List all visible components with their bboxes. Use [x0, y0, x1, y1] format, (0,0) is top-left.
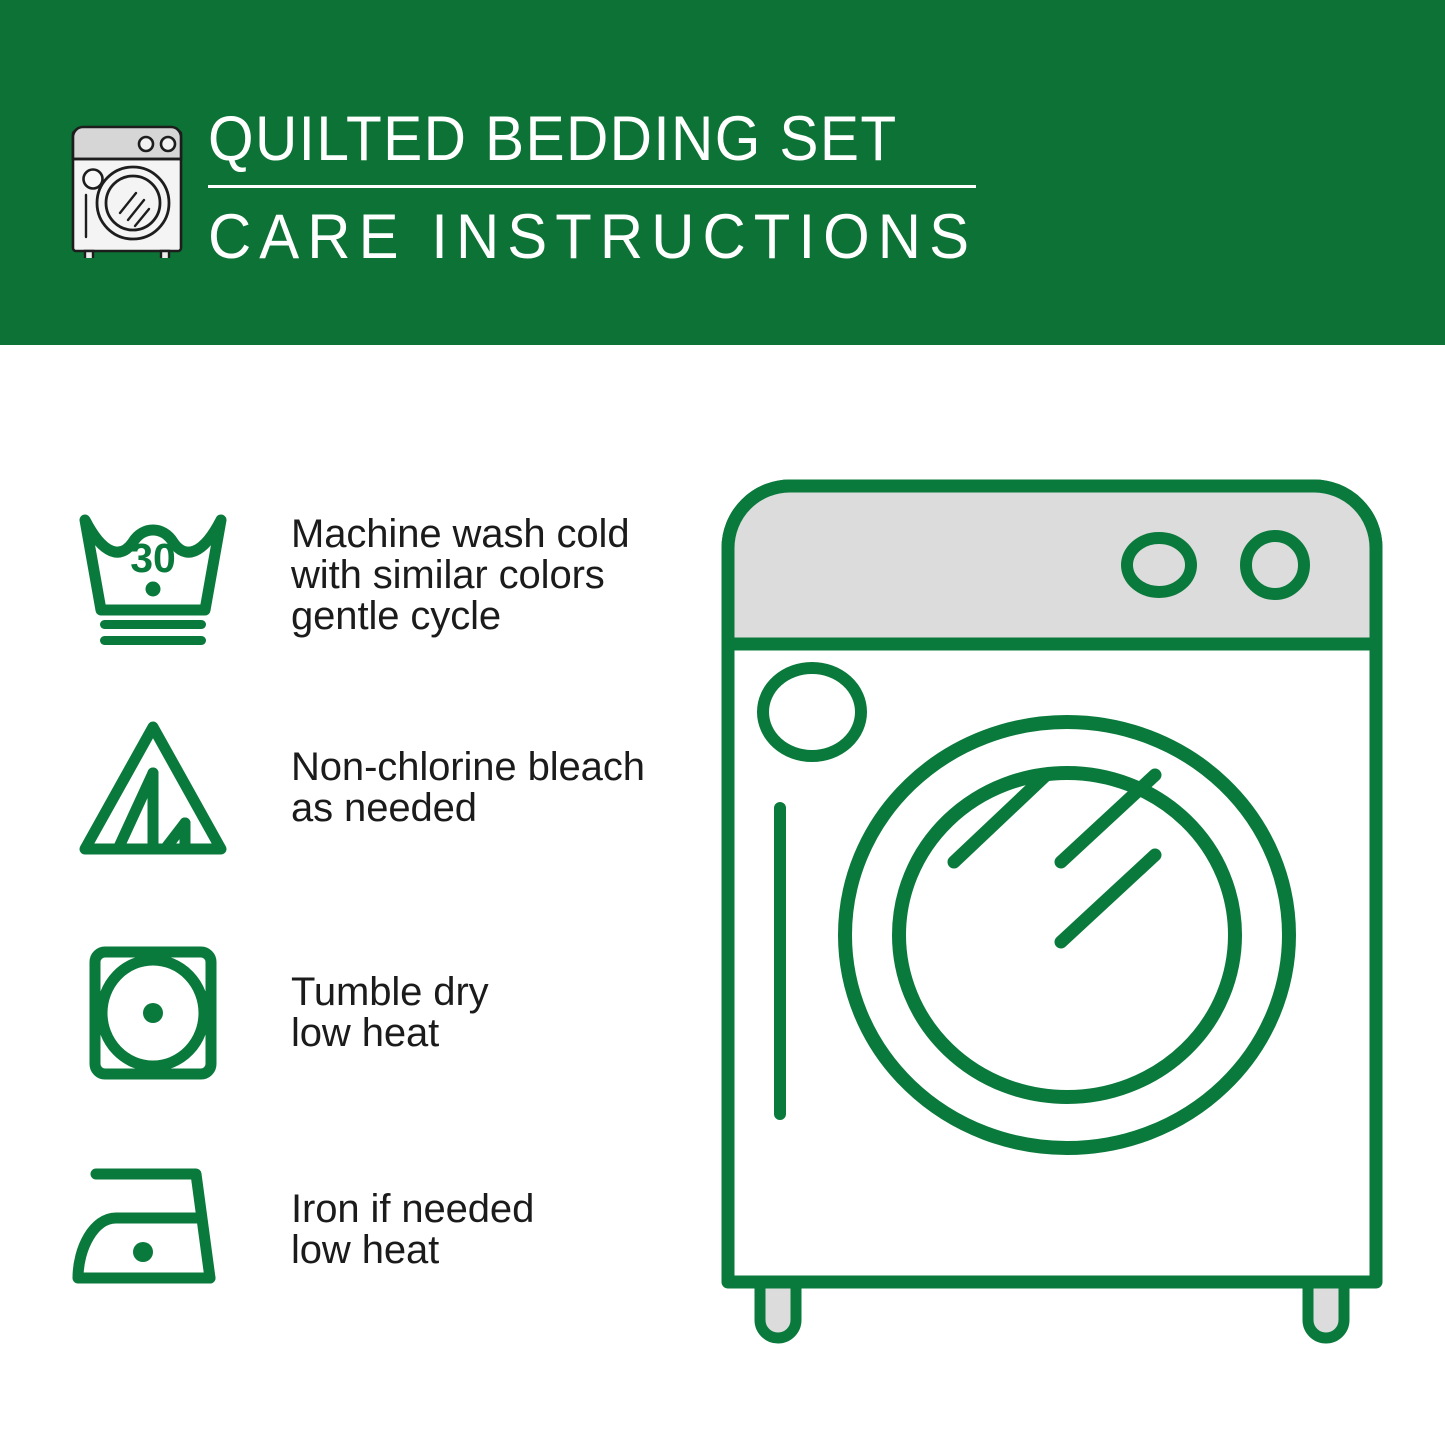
care-row: 30 Machine wash cold with similar colors… — [0, 485, 700, 665]
wash-temp-value: 30 — [130, 535, 176, 581]
care-label: Tumble dry low heat — [291, 972, 700, 1054]
title-divider — [208, 185, 976, 188]
header-banner: QUILTED BEDDING SET CARE INSTRUCTIONS — [0, 0, 1445, 345]
care-instructions-page: QUILTED BEDDING SET CARE INSTRUCTIONS 30 — [0, 0, 1445, 1445]
care-instruction-list: 30 Machine wash cold with similar colors… — [0, 345, 700, 1445]
care-label: Machine wash cold with similar colors ge… — [291, 514, 700, 637]
care-label: Iron if needed low heat — [291, 1189, 700, 1271]
washing-machine-illustration — [712, 470, 1402, 1370]
detergent-knob — [763, 668, 861, 756]
care-row: Non-chlorine bleach as needed — [0, 698, 700, 878]
washing-machine-icon — [63, 103, 193, 258]
tumble-dry-low-icon — [65, 938, 240, 1088]
page-title: QUILTED BEDDING SET — [208, 104, 943, 174]
care-label: Non-chlorine bleach as needed — [291, 747, 700, 829]
header-title-block: QUILTED BEDDING SET CARE INSTRUCTIONS — [208, 104, 998, 272]
non-chlorine-bleach-triangle-icon — [65, 713, 240, 863]
care-row: Tumble dry low heat — [0, 923, 700, 1103]
page-subtitle: CARE INSTRUCTIONS — [208, 202, 959, 272]
dial-left — [1127, 538, 1191, 592]
wash-tub-30-icon: 30 — [65, 500, 240, 650]
dial-right — [1246, 536, 1304, 594]
leg-right — [1308, 1280, 1344, 1338]
iron-low-heat-icon — [65, 1160, 240, 1300]
care-row: Iron if needed low heat — [0, 1140, 700, 1320]
leg-left — [760, 1280, 796, 1338]
